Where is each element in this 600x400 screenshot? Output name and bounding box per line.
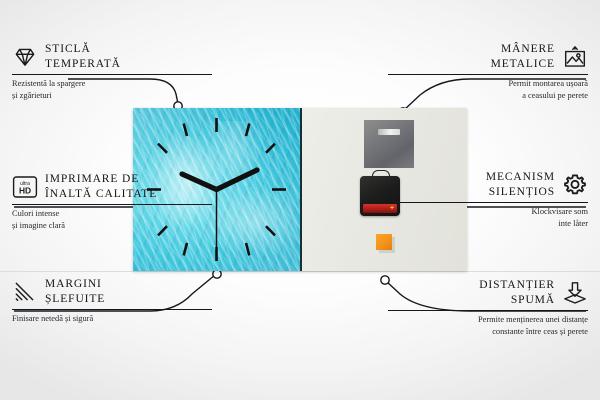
feature-title: MECANISM SILENȚIOS: [486, 170, 555, 199]
diamond-gem-icon: [12, 44, 38, 70]
foam-spacer-pad: [376, 234, 392, 250]
feature-header: ultra HD IMPRIMARE DE ÎNALTĂ CALITATE: [12, 172, 212, 201]
feature-title: STICLĂ TEMPERATĂ: [45, 42, 121, 71]
picture-frame-hanger-icon: [562, 44, 588, 70]
infographic-canvas: + STICLĂ TEMPERATĂ Rezistentă la sparger: [0, 0, 600, 400]
feature-title: MARGINI ȘLEFUITE: [45, 277, 105, 306]
metal-hanger-plate: [364, 120, 414, 168]
feature-metal-hangers: MÂNERE METALICE Permit montarea ușoară a…: [388, 42, 588, 102]
feature-description: Klockvisare som inte låter: [388, 206, 588, 229]
feature-description: Permite menținerea unei distanțe constan…: [388, 314, 588, 337]
feature-polished-edges: MARGINI ȘLEFUITE Finisare netedă și sigu…: [12, 277, 212, 325]
horizon-line: [0, 271, 600, 272]
svg-text:HD: HD: [19, 185, 31, 195]
minute-hand: [217, 170, 258, 190]
feature-header: STICLĂ TEMPERATĂ: [12, 42, 212, 71]
feature-description: Rezistentă la spargere și zgârieturi: [12, 78, 212, 101]
title-underline: [388, 310, 588, 311]
feature-description: Finisare netedă și sigură: [12, 313, 212, 325]
feature-title: MÂNERE METALICE: [491, 42, 555, 71]
feature-description: Culori intense și imagine clară: [12, 208, 212, 231]
feature-header: MECANISM SILENȚIOS: [388, 170, 588, 199]
ultra-hd-icon: ultra HD: [12, 174, 38, 200]
feature-header: MÂNERE METALICE: [388, 42, 588, 71]
feature-hd-print: ultra HD IMPRIMARE DE ÎNALTĂ CALITATE Cu…: [12, 172, 212, 232]
foam-spacer-arrow-icon: [562, 280, 588, 306]
gear-icon: [562, 172, 588, 198]
title-underline: [388, 202, 588, 203]
title-underline: [12, 309, 212, 310]
feature-silent-mechanism: MECANISM SILENȚIOS Klockvisare som inte …: [388, 170, 588, 230]
feature-title: DISTANȚIER SPUMĂ: [479, 278, 555, 307]
title-underline: [12, 204, 212, 205]
feature-header: DISTANȚIER SPUMĂ: [388, 278, 588, 307]
feature-tempered-glass: STICLĂ TEMPERATĂ Rezistentă la spargere …: [12, 42, 212, 102]
feature-title: IMPRIMARE DE ÎNALTĂ CALITATE: [45, 172, 157, 201]
polished-edge-icon: [12, 279, 38, 305]
title-underline: [388, 74, 588, 75]
feature-description: Permit montarea ușoară a ceasului pe per…: [388, 78, 588, 101]
title-underline: [12, 74, 212, 75]
hand-hub: [214, 187, 219, 192]
feature-header: MARGINI ȘLEFUITE: [12, 277, 212, 306]
hanger-slot: [378, 129, 400, 135]
feature-foam-spacer: DISTANȚIER SPUMĂ Permite menținerea unei…: [388, 278, 588, 338]
